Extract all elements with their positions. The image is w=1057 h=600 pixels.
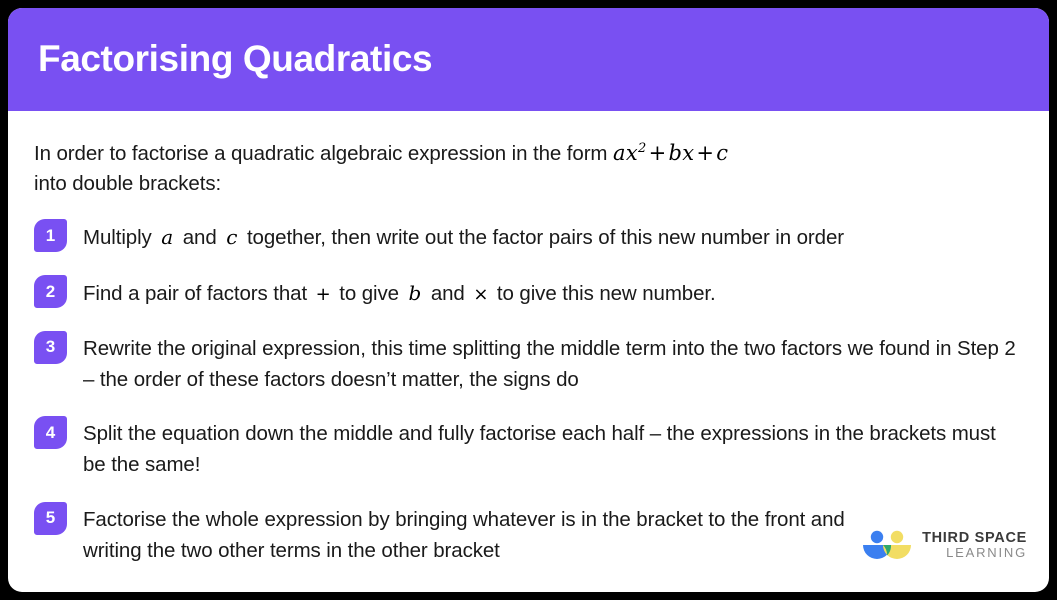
intro-text-before: In order to factorise a quadratic algebr… [34, 142, 613, 165]
step-badge-1: 1 [34, 219, 67, 252]
formula-exponent: 2 [638, 141, 647, 156]
step-item: 1 Multiply a and c together, then write … [34, 221, 1023, 254]
step-text-1: Multiply a and c together, then write ou… [83, 221, 844, 254]
step-text-2: Find a pair of factors that + to give b … [83, 277, 716, 310]
logo-line-2: LEARNING [922, 546, 1027, 560]
formula-plus-2: + [694, 141, 716, 165]
step-2-part-3: and [425, 282, 470, 305]
quadratic-formula: ax2+bx+c [613, 141, 728, 165]
step-item: 2 Find a pair of factors that + to give … [34, 277, 1023, 310]
step-badge-3: 3 [34, 331, 67, 364]
card-header: Factorising Quadratics [8, 8, 1049, 111]
lesson-card: Factorising Quadratics In order to facto… [8, 8, 1049, 592]
card-body: In order to factorise a quadratic algebr… [8, 111, 1049, 592]
step-2-plus-symbol: + [313, 284, 334, 305]
step-item: 4 Split the equation down the middle and… [34, 418, 1023, 481]
steps-list: 1 Multiply a and c together, then write … [34, 221, 1023, 566]
formula-b: b [668, 141, 682, 165]
step-2-times-symbol: × [470, 284, 491, 305]
intro-text-after: into double brackets: [34, 172, 221, 195]
step-1-part-3: together, then write out the factor pair… [241, 226, 844, 249]
step-2-part-4: to give this new number. [491, 282, 715, 305]
formula-a: a [613, 141, 626, 165]
logo-line-1: THIRD SPACE [922, 531, 1027, 547]
third-space-learning-logo: THIRD SPACE LEARNING [861, 529, 1027, 562]
step-1-part-2: and [177, 226, 222, 249]
step-badge-2: 2 [34, 275, 67, 308]
step-text-3: Rewrite the original expression, this ti… [83, 333, 1023, 396]
intro-paragraph: In order to factorise a quadratic algebr… [34, 138, 1019, 199]
step-text-5: Factorise the whole expression by bringi… [83, 504, 873, 567]
step-1-math-c: c [222, 225, 241, 249]
step-badge-5: 5 [34, 502, 67, 535]
step-2-part-2: to give [334, 282, 405, 305]
page-title: Factorising Quadratics [38, 39, 432, 80]
formula-plus-1: + [647, 141, 669, 165]
logo-mark-icon [861, 529, 913, 562]
step-item: 3 Rewrite the original expression, this … [34, 333, 1023, 396]
step-badge-4: 4 [34, 416, 67, 449]
step-text-4: Split the equation down the middle and f… [83, 418, 1023, 481]
step-1-math-a: a [157, 225, 177, 249]
formula-x-2: x [682, 141, 694, 165]
formula-x: x [626, 141, 638, 165]
step-1-part-1: Multiply [83, 226, 157, 249]
step-2-math-b: b [405, 281, 426, 305]
step-2-part-1: Find a pair of factors that [83, 282, 313, 305]
logo-wordmark: THIRD SPACE LEARNING [922, 531, 1027, 561]
formula-c: c [716, 141, 728, 165]
